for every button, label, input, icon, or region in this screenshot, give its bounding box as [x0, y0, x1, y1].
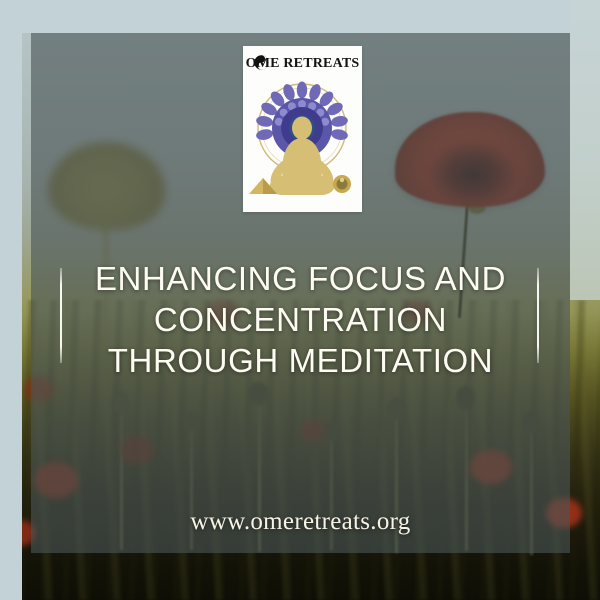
- buddha-mandala-artwork: [243, 72, 362, 212]
- ornament-shape: [333, 175, 351, 193]
- logo-wordmark: OME RETREATS: [243, 56, 362, 72]
- website-url: www.omeretreats.org: [31, 508, 570, 536]
- logo-card: OME RETREATS: [243, 46, 362, 212]
- title-line-1: ENHANCING FOCUS AND: [31, 258, 570, 299]
- title-line-2: CONCENTRATION: [31, 299, 570, 340]
- meditation-poster: OME RETREATS: [0, 0, 600, 600]
- poster-title: ENHANCING FOCUS AND CONCENTRATION THROUG…: [31, 258, 570, 381]
- title-line-3: THROUGH MEDITATION: [31, 340, 570, 381]
